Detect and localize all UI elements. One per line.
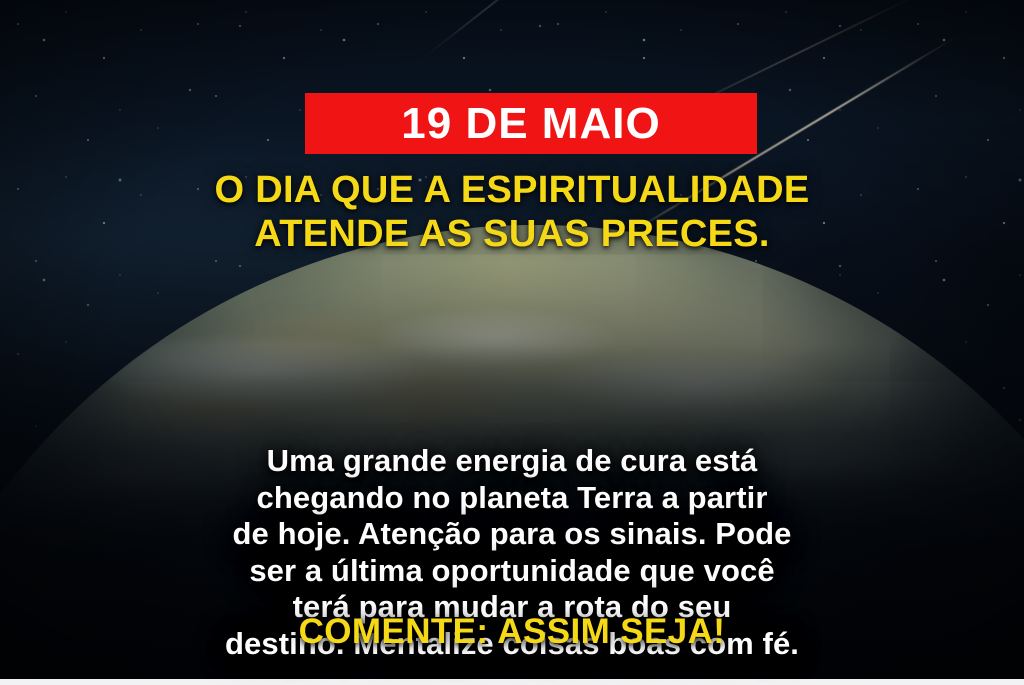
headline: O DIA QUE A ESPIRITUALIDADE ATENDE AS SU… [0, 168, 1024, 257]
headline-line-2: ATENDE AS SUAS PRECES. [40, 212, 984, 256]
date-banner-label: 19 DE MAIO [401, 102, 660, 146]
body-line-4: ser a última oportunidade que você [24, 553, 1000, 590]
date-banner: 19 DE MAIO [305, 93, 757, 154]
body-line-3: de hoje. Atenção para os sinais. Pode [24, 516, 1000, 553]
body-line-1: Uma grande energia de cura está [24, 443, 1000, 480]
headline-line-1: O DIA QUE A ESPIRITUALIDADE [40, 168, 984, 212]
poster-content: 19 DE MAIO O DIA QUE A ESPIRITUALIDADE A… [0, 0, 1024, 685]
call-to-action-text: COMENTE: ASSIM SEJA! [0, 613, 1024, 652]
poster-canvas: 19 DE MAIO O DIA QUE A ESPIRITUALIDADE A… [0, 0, 1024, 685]
body-line-2: chegando no planeta Terra a partir [24, 480, 1000, 517]
